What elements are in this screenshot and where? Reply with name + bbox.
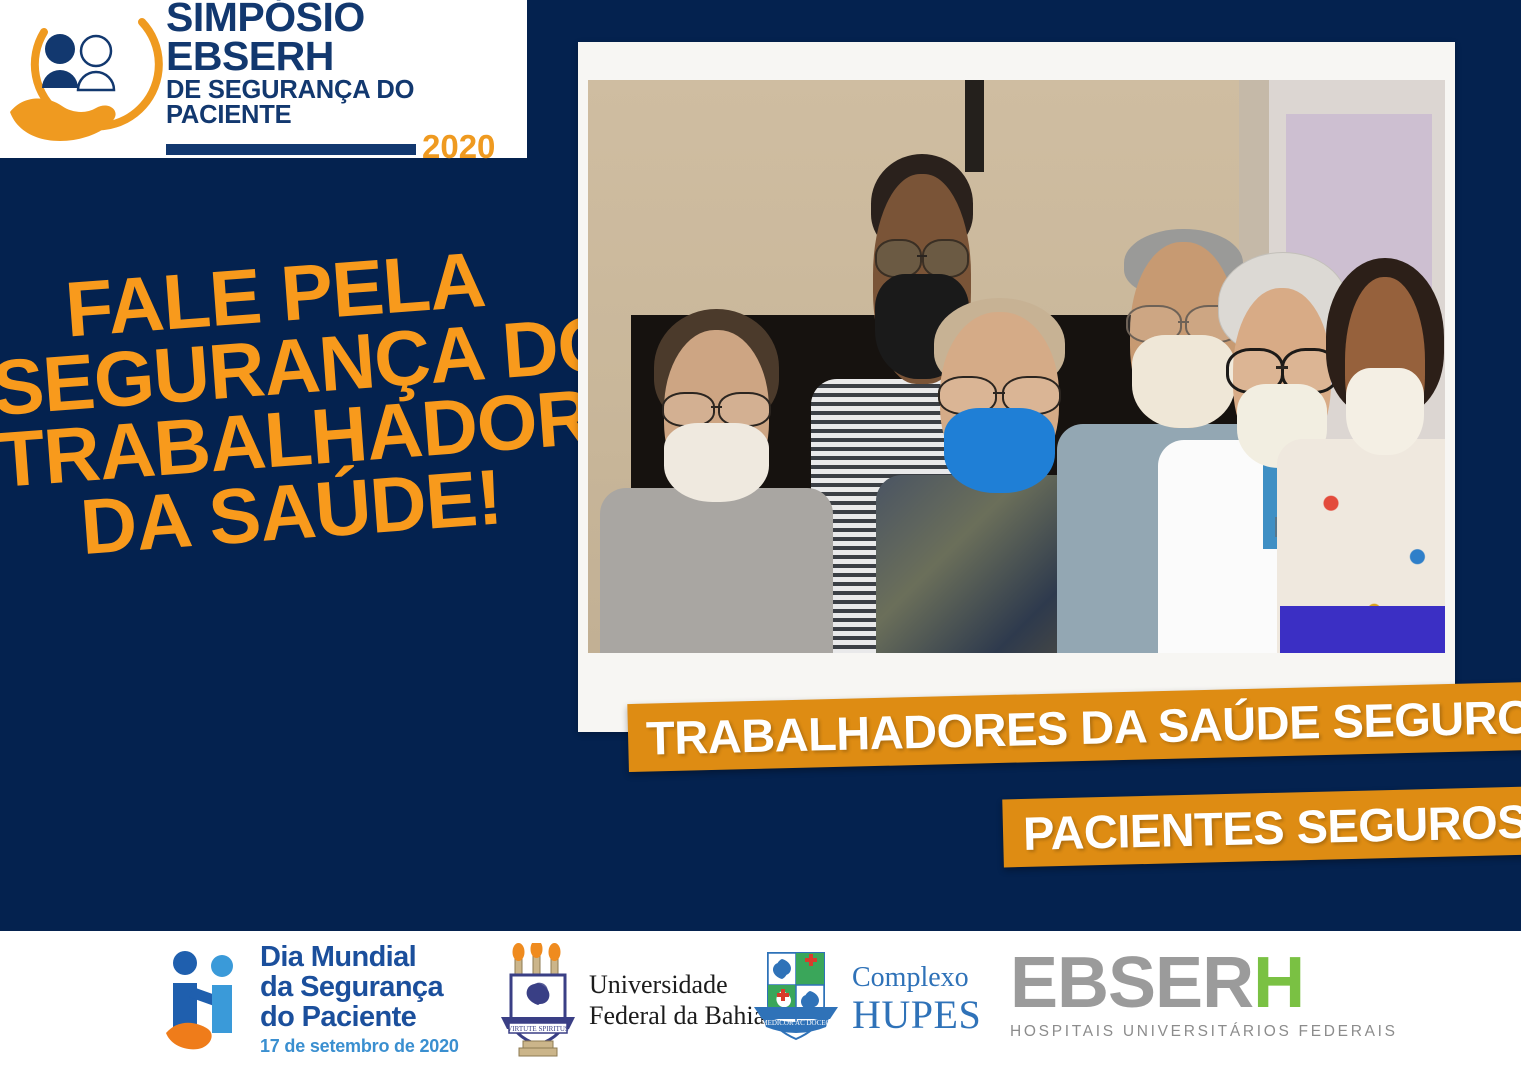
ebserh-word-gray: EBSER <box>1010 943 1253 1023</box>
photo-person-2-glasses-icon <box>662 392 771 423</box>
footer-logo-hupes: MEDICOR AC DOCEO Complexo HUPES <box>750 945 981 1055</box>
ebserh-word-green: H <box>1253 943 1304 1023</box>
photo-person-3-mask <box>944 408 1055 493</box>
simposio-ebserh-icon <box>4 8 164 150</box>
event-logo-rule <box>166 144 416 155</box>
team-photo <box>588 80 1445 653</box>
banner-line-2: PACIENTES SEGUROS <box>1002 787 1521 868</box>
photo-person-6-skirt <box>1280 606 1445 653</box>
photo-person-1-glasses-icon <box>873 239 971 274</box>
hupes-motto: MEDICOR AC DOCEO <box>761 1019 830 1027</box>
event-logo-year: 2020 <box>422 134 495 160</box>
banner-line-2-text: PACIENTES SEGUROS <box>1022 793 1521 860</box>
footer-logo-dia-mundial: Dia Mundial da Segurança do Paciente 17 … <box>160 941 459 1059</box>
event-logo-line1: SIMPÓSIO EBSERH <box>166 0 527 77</box>
ufba-line1: Universidade <box>589 970 765 1001</box>
dia-mundial-line3: do Paciente <box>260 1003 459 1033</box>
photo-person-6 <box>1308 258 1445 653</box>
ufba-motto: VIRTUTE SPIRITUS <box>507 1025 569 1033</box>
footer-logo-bar: Dia Mundial da Segurança do Paciente 17 … <box>0 931 1521 1080</box>
event-logo-text: SIMPÓSIO EBSERH DE SEGURANÇA DO PACIENTE… <box>166 0 527 160</box>
dia-mundial-date: 17 de setembro de 2020 <box>260 1036 459 1057</box>
footer-logo-ufba: VIRTUTE SPIRITUS Universidade Federal da… <box>495 943 765 1058</box>
ufba-line2: Federal da Bahia <box>589 1001 765 1032</box>
dia-mundial-line2: da Segurança <box>260 973 459 1003</box>
ufba-crest-icon: VIRTUTE SPIRITUS <box>495 943 581 1058</box>
photo-person-6-mask <box>1346 368 1423 455</box>
ebserh-wordmark: EBSERH <box>1010 953 1304 1014</box>
dia-mundial-icon <box>160 941 252 1059</box>
polaroid-frame <box>578 42 1455 732</box>
photo-person-2 <box>622 309 811 653</box>
photo-person-2-body <box>600 488 834 653</box>
poster-canvas: SIMPÓSIO EBSERH DE SEGURANÇA DO PACIENTE… <box>0 0 1521 1080</box>
ebserh-subtitle: HOSPITAIS UNIVERSITÁRIOS FEDERAIS <box>1010 1023 1398 1041</box>
photo-person-3-glasses-icon <box>938 376 1061 412</box>
hupes-line1: Complexo <box>852 964 981 992</box>
event-logo-line2: DE SEGURANÇA DO PACIENTE <box>166 78 527 129</box>
footer-logo-ebserh: EBSERH HOSPITAIS UNIVERSITÁRIOS FEDERAIS <box>1010 953 1398 1041</box>
dia-mundial-line1: Dia Mundial <box>260 943 459 973</box>
event-logo-plate: SIMPÓSIO EBSERH DE SEGURANÇA DO PACIENTE… <box>0 0 527 158</box>
hupes-line2: HUPES <box>852 994 981 1036</box>
page-title: FALE PELA SEGURANÇA DOS TRABALHADORES DA… <box>0 237 582 569</box>
photo-person-2-mask <box>664 423 770 502</box>
hupes-crest-icon: MEDICOR AC DOCEO <box>750 945 842 1055</box>
